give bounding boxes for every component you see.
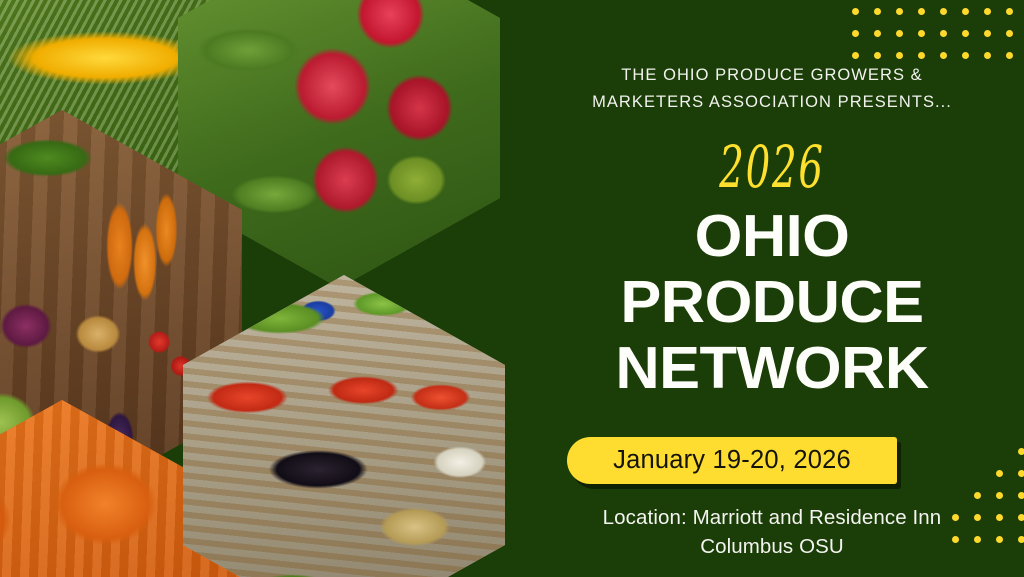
event-date-badge: January 19-20, 2026	[567, 437, 897, 484]
decorative-dot	[918, 30, 925, 37]
decorative-dot	[984, 8, 991, 15]
location-line-1: Location: Marriott and Residence Inn	[603, 506, 942, 529]
decorative-dot	[874, 52, 881, 59]
decorative-dot	[940, 52, 947, 59]
bottom-dot-grid-decoration	[952, 448, 1024, 573]
decorative-dot	[984, 30, 991, 37]
decorative-dot	[962, 52, 969, 59]
title-line-2: PRODUCE	[510, 269, 1024, 335]
decorative-dot	[996, 536, 1003, 543]
presenter-line: THE OHIO PRODUCE GROWERS & MARKETERS ASS…	[520, 62, 1024, 116]
decorative-dot	[918, 8, 925, 15]
decorative-dot	[952, 536, 959, 543]
title-line-3: NETWORK	[510, 335, 1024, 401]
decorative-dot	[952, 514, 959, 521]
presenter-line-2: MARKETERS ASSOCIATION PRESENTS...	[592, 93, 952, 111]
decorative-dot	[996, 514, 1003, 521]
decorative-dot	[1018, 492, 1024, 499]
decorative-dot	[1006, 52, 1013, 59]
decorative-dot	[1018, 470, 1024, 477]
decorative-dot	[940, 8, 947, 15]
event-year: 2026	[555, 133, 988, 201]
decorative-dot	[974, 492, 981, 499]
title-line-1: OHIO	[510, 203, 1024, 269]
decorative-dot	[996, 470, 1003, 477]
decorative-dot	[940, 30, 947, 37]
decorative-dot	[918, 52, 925, 59]
decorative-dot	[996, 492, 1003, 499]
decorative-dot	[852, 52, 859, 59]
decorative-dot	[874, 30, 881, 37]
event-date-text: January 19-20, 2026	[613, 446, 851, 475]
decorative-dot	[974, 514, 981, 521]
decorative-dot	[852, 30, 859, 37]
decorative-dot	[1018, 536, 1024, 543]
decorative-dot	[1006, 30, 1013, 37]
decorative-dot	[1006, 8, 1013, 15]
decorative-dot	[962, 8, 969, 15]
decorative-dot	[1018, 448, 1024, 455]
decorative-dot	[1018, 514, 1024, 521]
decorative-dot	[974, 536, 981, 543]
decorative-dot	[874, 8, 881, 15]
decorative-dot	[896, 8, 903, 15]
decorative-dot	[896, 52, 903, 59]
page-title: OHIO PRODUCE NETWORK	[520, 203, 1024, 401]
event-poster: THE OHIO PRODUCE GROWERS & MARKETERS ASS…	[0, 0, 1024, 577]
top-dot-grid-decoration	[852, 8, 1024, 68]
location-line-2: Columbus OSU	[700, 535, 844, 558]
decorative-dot	[962, 30, 969, 37]
photo-collage	[0, 0, 540, 577]
decorative-dot	[984, 52, 991, 59]
poster-content: THE OHIO PRODUCE GROWERS & MARKETERS ASS…	[520, 0, 1024, 577]
presenter-line-1: THE OHIO PRODUCE GROWERS &	[621, 66, 922, 84]
decorative-dot	[852, 8, 859, 15]
decorative-dot	[896, 30, 903, 37]
event-location: Location: Marriott and Residence Inn Col…	[520, 503, 1024, 561]
